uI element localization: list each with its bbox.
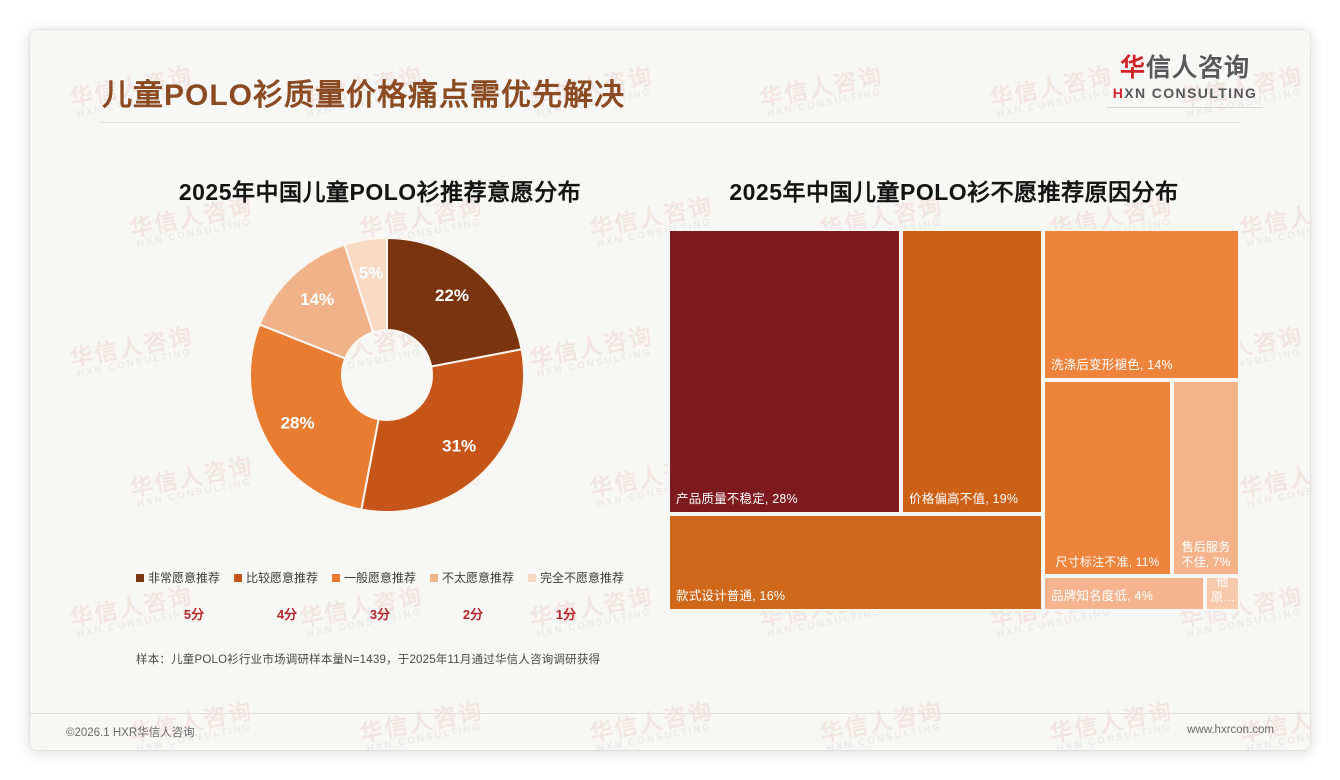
score-label: 5分 xyxy=(148,604,241,623)
brand-logo: 华信人咨询 HXN CONSULTING xyxy=(1100,55,1270,108)
treemap-cell-label: 其他原… xyxy=(1211,576,1234,605)
donut-slice-label: 28% xyxy=(281,414,315,433)
logo-chinese: 华信人咨询 xyxy=(1100,55,1270,83)
donut-chart-title: 2025年中国儿童POLO衫推荐意愿分布 xyxy=(100,173,660,207)
score-label: 2分 xyxy=(427,604,520,623)
donut-chart-panel: 2025年中国儿童POLO衫推荐意愿分布 22%31%28%14%5% 非常愿意… xyxy=(100,155,660,710)
footer-copyright: ©2026.1 HXR华信人咨询 xyxy=(66,724,195,740)
treemap-cell[interactable]: 品牌知名度低, 4% xyxy=(1043,576,1205,611)
score-label: 3分 xyxy=(334,604,427,623)
treemap-cell[interactable]: 产品质量不稳定, 28% xyxy=(668,229,901,514)
watermark-text: 华信人咨询HXN CONSULTING xyxy=(1238,453,1310,511)
treemap-cell-label: 尺寸标注不准, 11% xyxy=(1049,555,1166,570)
sample-note: 样本：儿童POLO衫行业市场调研样本量N=1439，于2025年11月通过华信人… xyxy=(100,651,660,667)
legend-swatch-icon xyxy=(528,574,536,582)
page-title: 儿童POLO衫质量价格痛点需优先解决 xyxy=(102,70,625,114)
donut-slice-label: 22% xyxy=(435,286,469,305)
donut-chart: 22%31%28%14%5% xyxy=(100,213,660,573)
treemap-cell-label: 款式设计普通, 16% xyxy=(676,589,1037,605)
treemap-cell-label: 售后服务不佳, 7% xyxy=(1178,540,1234,570)
slide: 华信人咨询HXN CONSULTING华信人咨询HXN CONSULTING华信… xyxy=(30,30,1310,750)
screenshot-stage: 华信人咨询HXN CONSULTING华信人咨询HXN CONSULTING华信… xyxy=(0,0,1340,780)
legend-swatch-icon xyxy=(332,574,340,582)
logo-cn-rest: 信人咨询 xyxy=(1146,54,1250,82)
watermark-text: 华信人咨询HXN CONSULTING xyxy=(758,63,887,121)
donut-slice-label: 14% xyxy=(300,290,334,309)
donut-slice[interactable] xyxy=(361,349,524,512)
treemap-cell[interactable]: 售后服务不佳, 7% xyxy=(1172,380,1240,576)
legend-swatch-icon xyxy=(136,574,144,582)
treemap-chart-panel: 2025年中国儿童POLO衫不愿推荐原因分布 产品质量不稳定, 28%价格偏高不… xyxy=(668,155,1240,710)
logo-english: HXN CONSULTING xyxy=(1100,85,1270,101)
treemap-chart: 产品质量不稳定, 28%价格偏高不值, 19%款式设计普通, 16%洗涤后变形褪… xyxy=(668,229,1240,611)
treemap-cell-label: 产品质量不稳定, 28% xyxy=(676,492,895,508)
donut-slice-label: 5% xyxy=(359,264,384,283)
logo-cn-highlight: 华 xyxy=(1120,54,1146,82)
treemap-cell[interactable]: 尺寸标注不准, 11% xyxy=(1043,380,1172,576)
score-label: 1分 xyxy=(520,604,613,623)
treemap-cell[interactable]: 款式设计普通, 16% xyxy=(668,514,1043,611)
donut-svg: 22%31%28%14%5% xyxy=(100,213,660,573)
treemap-cell-label: 品牌知名度低, 4% xyxy=(1051,589,1199,605)
legend-swatch-icon xyxy=(234,574,242,582)
score-scale-row: 5分4分3分2分1分 xyxy=(100,604,660,623)
treemap-cell-label: 价格偏高不值, 19% xyxy=(909,492,1037,508)
score-label: 4分 xyxy=(241,604,334,623)
watermark-text: 华信人咨询HXN CONSULTING xyxy=(988,63,1117,121)
footer-website[interactable]: www.hxrcon.com xyxy=(1187,724,1274,736)
watermark-text: 华信人咨询HXN CONSULTING xyxy=(1238,193,1310,251)
logo-divider xyxy=(1107,107,1263,108)
logo-en-rest: XN CONSULTING xyxy=(1124,85,1257,101)
treemap-cell[interactable]: 洗涤后变形褪色, 14% xyxy=(1043,229,1240,380)
treemap-cell[interactable]: 价格偏高不值, 19% xyxy=(901,229,1043,514)
legend-swatch-icon xyxy=(430,574,438,582)
treemap-chart-title: 2025年中国儿童POLO衫不愿推荐原因分布 xyxy=(668,173,1240,207)
treemap-cell[interactable]: 其他原… xyxy=(1205,576,1240,611)
title-divider xyxy=(100,122,1240,123)
footer: ©2026.1 HXR华信人咨询 www.hxrcon.com xyxy=(30,714,1310,750)
logo-en-highlight: H xyxy=(1113,85,1125,101)
treemap-cell-label: 洗涤后变形褪色, 14% xyxy=(1051,358,1234,374)
donut-slice-label: 31% xyxy=(442,437,476,456)
